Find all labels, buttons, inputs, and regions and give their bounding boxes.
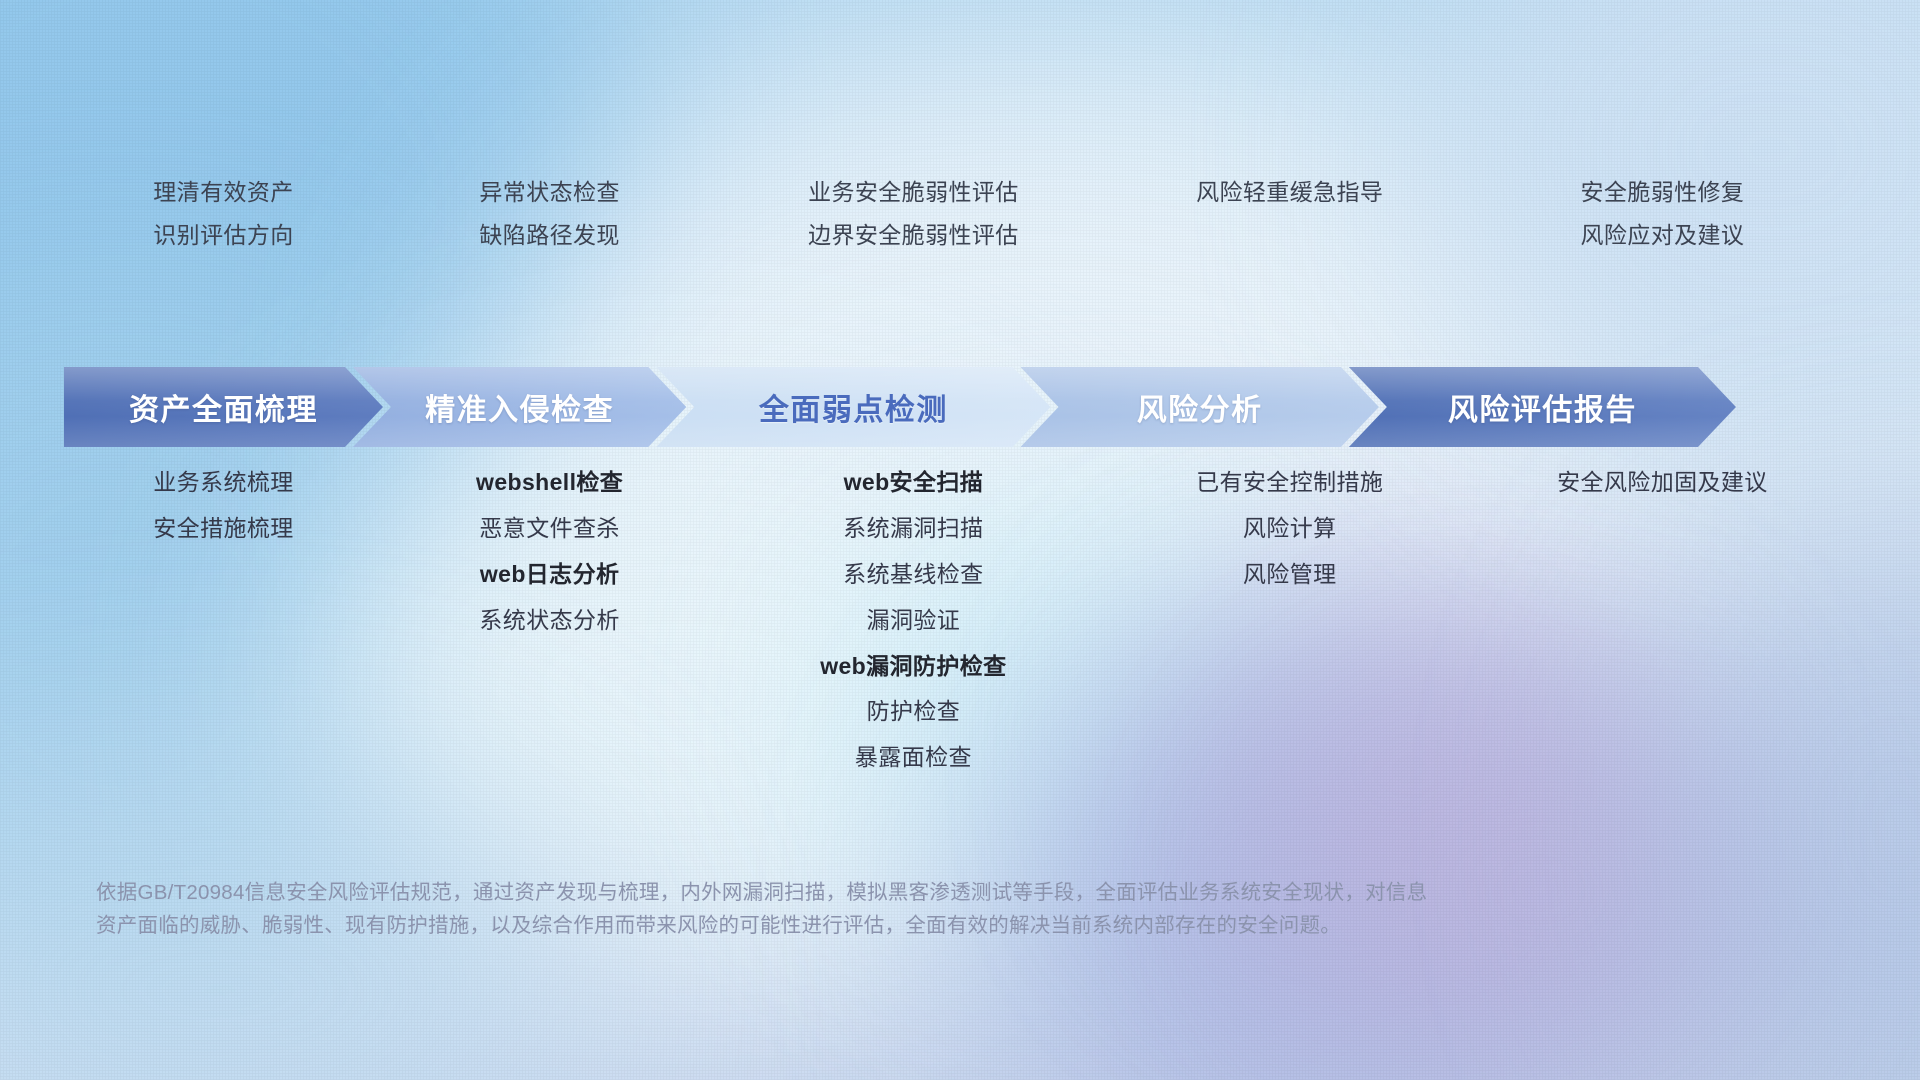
stage-title-weakness-detection: 全面弱点检测 [759, 385, 948, 429]
bottom-descriptor-item: 暴露面检查 [855, 743, 972, 773]
stage-title-asset-inventory: 资产全面梳理 [129, 385, 318, 429]
stage-chevron-asset-inventory[interactable]: 资产全面梳理 [64, 367, 383, 447]
bottom-descriptor-item: 系统基线检查 [843, 560, 983, 590]
bottom-descriptor-item: web日志分析 [480, 560, 620, 590]
top-descriptor-col-weakness-detection: 业务安全脆弱性评估边界安全脆弱性评估 [716, 178, 1110, 251]
top-descriptor-item: 异常状态检查 [479, 178, 619, 207]
top-descriptor-item: 业务安全脆弱性评估 [808, 178, 1019, 207]
bottom-descriptor-item: webshell检查 [476, 468, 623, 498]
stage-top-descriptors: 理清有效资产识别评估方向异常状态检查缺陷路径发现业务安全脆弱性评估边界安全脆弱性… [64, 178, 1856, 251]
stage-bottom-descriptors: 业务系统梳理安全措施梳理webshell检查恶意文件查杀web日志分析系统状态分… [64, 468, 1856, 773]
bottom-descriptor-col-risk-analysis: 已有安全控制措施风险计算风险管理 [1111, 468, 1469, 590]
stage-title-risk-report: 风险评估报告 [1448, 385, 1637, 429]
top-descriptor-item: 识别评估方向 [153, 221, 293, 250]
stage-chevron-intrusion-check[interactable]: 精准入侵检查 [353, 367, 686, 447]
stage-title-risk-analysis: 风险分析 [1137, 385, 1263, 429]
slide-content: 理清有效资产识别评估方向异常状态检查缺陷路径发现业务安全脆弱性评估边界安全脆弱性… [0, 0, 1920, 1080]
top-descriptor-item: 风险应对及建议 [1581, 221, 1745, 250]
bottom-descriptor-item: 安全措施梳理 [153, 514, 293, 544]
stage-chevron-weakness-detection[interactable]: 全面弱点检测 [656, 367, 1050, 447]
top-descriptor-col-asset-inventory: 理清有效资产识别评估方向 [64, 178, 383, 251]
bottom-descriptor-col-asset-inventory: 业务系统梳理安全措施梳理 [64, 468, 383, 544]
bottom-descriptor-item: 系统漏洞扫描 [843, 514, 983, 544]
top-descriptor-item: 风险轻重缓急指导 [1196, 178, 1383, 207]
top-descriptor-col-risk-report: 安全脆弱性修复风险应对及建议 [1469, 178, 1856, 251]
top-descriptor-item: 缺陷路径发现 [479, 221, 619, 250]
stage-title-intrusion-check: 精准入侵检查 [425, 385, 614, 429]
stage-chevron-risk-report[interactable]: 风险评估报告 [1349, 367, 1736, 447]
bottom-descriptor-item: 漏洞验证 [867, 606, 961, 636]
top-descriptor-item: 边界安全脆弱性评估 [808, 221, 1019, 250]
bottom-descriptor-item: 防护检查 [867, 697, 961, 727]
bottom-descriptor-item: web漏洞防护检查 [820, 652, 1006, 682]
top-descriptor-item: 理清有效资产 [153, 178, 293, 207]
top-descriptor-item: 安全脆弱性修复 [1581, 178, 1745, 207]
bottom-descriptor-item: 业务系统梳理 [153, 468, 293, 498]
top-descriptor-col-risk-analysis: 风险轻重缓急指导 [1111, 178, 1469, 251]
bottom-descriptor-item: 风险计算 [1243, 514, 1337, 544]
bottom-descriptor-col-weakness-detection: web安全扫描系统漏洞扫描系统基线检查漏洞验证web漏洞防护检查防护检查暴露面检… [716, 468, 1110, 773]
bottom-descriptor-item: 已有安全控制措施 [1196, 468, 1383, 498]
bottom-descriptor-col-risk-report: 安全风险加固及建议 [1469, 468, 1856, 498]
stage-chevron-risk-analysis[interactable]: 风险分析 [1021, 367, 1379, 447]
bottom-descriptor-item: 风险管理 [1243, 560, 1337, 590]
bottom-descriptor-item: 恶意文件查杀 [479, 514, 619, 544]
bottom-descriptor-item: 安全风险加固及建议 [1557, 468, 1768, 498]
footer-line-1: 依据GB/T20984信息安全风险评估规范，通过资产发现与梳理，内外网漏洞扫描，… [96, 876, 1736, 909]
bottom-descriptor-item: web安全扫描 [844, 468, 984, 498]
top-descriptor-col-intrusion-check: 异常状态检查缺陷路径发现 [383, 178, 716, 251]
footer-description: 依据GB/T20984信息安全风险评估规范，通过资产发现与梳理，内外网漏洞扫描，… [96, 876, 1736, 942]
footer-line-2: 资产面临的威胁、脆弱性、现有防护措施，以及综合作用而带来风险的可能性进行评估，全… [96, 909, 1736, 942]
process-chevron-flow: 资产全面梳理精准入侵检查全面弱点检测风险分析风险评估报告 [64, 367, 1856, 447]
bottom-descriptor-item: 系统状态分析 [479, 606, 619, 636]
bottom-descriptor-col-intrusion-check: webshell检查恶意文件查杀web日志分析系统状态分析 [383, 468, 716, 636]
